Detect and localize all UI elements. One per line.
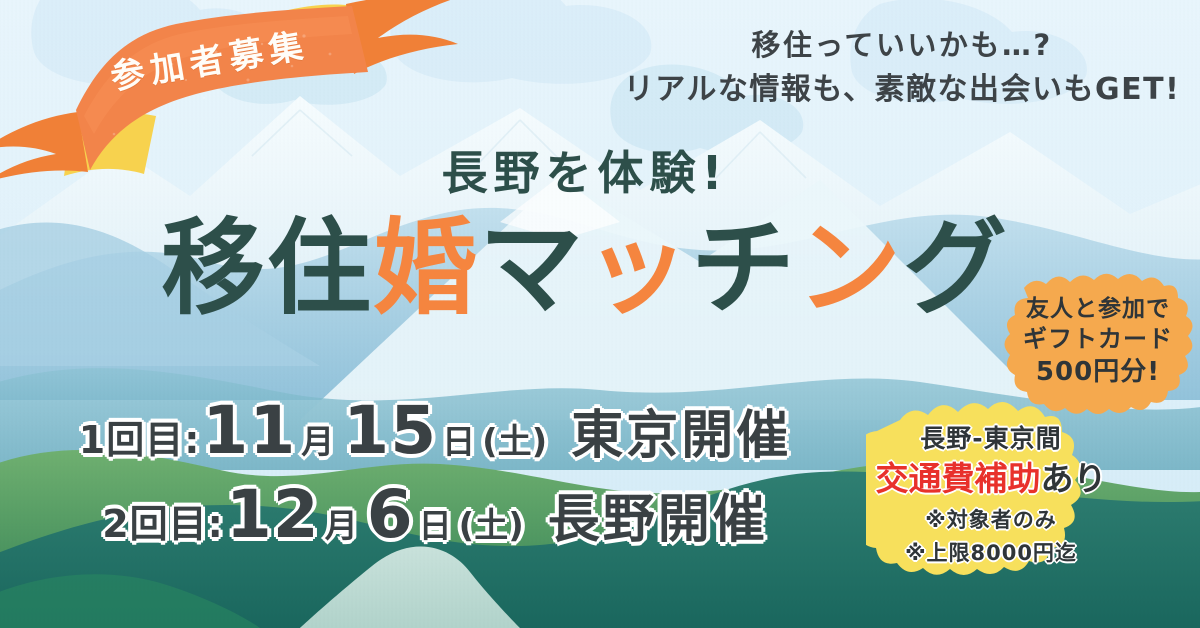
travel-badge-note-1: ※対象者のみ <box>866 507 1116 535</box>
date-2-day-unit: 日 <box>419 499 452 547</box>
date-2-month: 12 <box>226 476 320 553</box>
date-1-day-unit: 日 <box>442 415 475 463</box>
headline-char-0: 移住 <box>161 207 373 329</box>
date-1-month: 11 <box>202 392 296 469</box>
date-1-month-unit: 月 <box>301 415 334 463</box>
sub-headline: 長野を体験! <box>0 137 1200 203</box>
poster-canvas: 参加者募集 移住っていいかも…? リアルな情報も、素敵な出会いもGET! 長野を… <box>0 0 1200 628</box>
date-1-venue: 東京開催 <box>571 393 791 468</box>
date-1-dayofweek: (土) <box>482 414 547 463</box>
tagline-line-2: リアルな情報も、素敵な出会いもGET! <box>612 68 1192 112</box>
travel-badge-highlight: 交通費補助 <box>876 459 1041 498</box>
headline-char-5: ン <box>797 207 903 329</box>
headline-char-3: ッ <box>585 207 691 329</box>
travel-badge-line-1: 長野-東京間 <box>866 422 1116 456</box>
gift-badge-line-1: 友人と参加で <box>996 294 1200 324</box>
date-2-day: 6 <box>367 476 414 553</box>
date-1-ordinal: 1回目: <box>79 409 201 464</box>
headline-char-1: 婚 <box>373 207 479 329</box>
date-2-dayofweek: (土) <box>459 498 524 547</box>
travel-badge-note-2: ※上限8000円迄 <box>866 540 1116 568</box>
travel-subsidy-badge: 長野-東京間 交通費補助あり ※対象者のみ ※上限8000円迄 <box>866 398 1116 604</box>
headline-char-2: マ <box>479 207 585 329</box>
date-2-month-unit: 月 <box>325 499 358 547</box>
gift-badge-line-3: 500円分! <box>996 356 1200 390</box>
tagline: 移住っていいかも…? リアルな情報も、素敵な出会いもGET! <box>612 24 1192 112</box>
date-2-venue: 長野開催 <box>548 477 768 552</box>
headline-char-6: グ <box>903 207 1009 329</box>
date-1-day: 15 <box>343 392 437 469</box>
gift-badge-line-2: ギフトカード <box>996 324 1200 356</box>
travel-badge-suffix: あり <box>1041 459 1107 498</box>
date-2-ordinal: 2回目: <box>102 493 224 548</box>
headline-char-4: チ <box>691 207 797 329</box>
tagline-line-1: 移住っていいかも…? <box>612 24 1192 66</box>
